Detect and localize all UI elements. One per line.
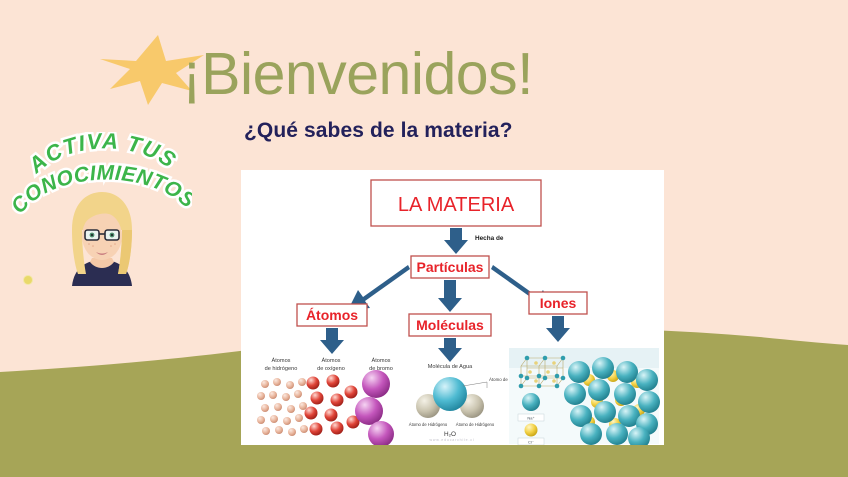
svg-text:H₂O: H₂O bbox=[444, 431, 456, 438]
svg-text:Átomos: Átomos bbox=[306, 307, 358, 323]
node-particulas: Partículas bbox=[411, 256, 489, 278]
svg-text:Moléculas: Moléculas bbox=[416, 317, 484, 333]
activa-tus-conocimientos-sticker: ACTIVA TUS ACTIVA TUS CONOCIMIENTOS CONO… bbox=[12, 132, 192, 287]
node-iones: Iones bbox=[529, 292, 587, 314]
svg-text:Molécula de Agua: Molécula de Agua bbox=[428, 364, 473, 370]
page-title: ¡Bienvenidos! bbox=[182, 41, 702, 109]
svg-text:Átomos: Átomos bbox=[272, 357, 291, 364]
svg-text:de oxígeno: de oxígeno bbox=[317, 366, 345, 372]
page-subtitle: ¿Qué sabes de la materia? bbox=[244, 117, 664, 145]
svg-text:Átomos: Átomos bbox=[322, 357, 341, 364]
node-moleculas: Moléculas bbox=[409, 314, 491, 336]
svg-text:Na⁺: Na⁺ bbox=[527, 416, 534, 421]
materia-diagram-panel: LA MATERIA Hecha de Partículas bbox=[241, 170, 664, 445]
slide-canvas: ¡Bienvenidos! ¿Qué sabes de la materia? … bbox=[0, 0, 848, 477]
edge-label-hecha-de: Hecha de bbox=[475, 235, 504, 242]
svg-text:Átomos: Átomos bbox=[372, 357, 391, 364]
svg-text:de hidrógeno: de hidrógeno bbox=[265, 366, 298, 372]
bitmoji-avatar-icon bbox=[72, 192, 132, 286]
watermark: www.educarchile.cl bbox=[430, 438, 475, 442]
svg-text:Partículas: Partículas bbox=[417, 259, 484, 275]
svg-text:Átomo de Hidrógeno: Átomo de Hidrógeno bbox=[456, 422, 495, 427]
node-la-materia: LA MATERIA bbox=[371, 180, 541, 226]
node-atomos: Átomos bbox=[297, 304, 367, 326]
svg-text:LA MATERIA: LA MATERIA bbox=[398, 194, 515, 216]
svg-text:Cl⁻: Cl⁻ bbox=[528, 440, 534, 445]
svg-text:Átomo de Hidrógeno: Átomo de Hidrógeno bbox=[409, 422, 448, 427]
svg-text:Iones: Iones bbox=[540, 295, 577, 311]
ions-illustration: Na⁺ Cl⁻ bbox=[509, 348, 660, 445]
